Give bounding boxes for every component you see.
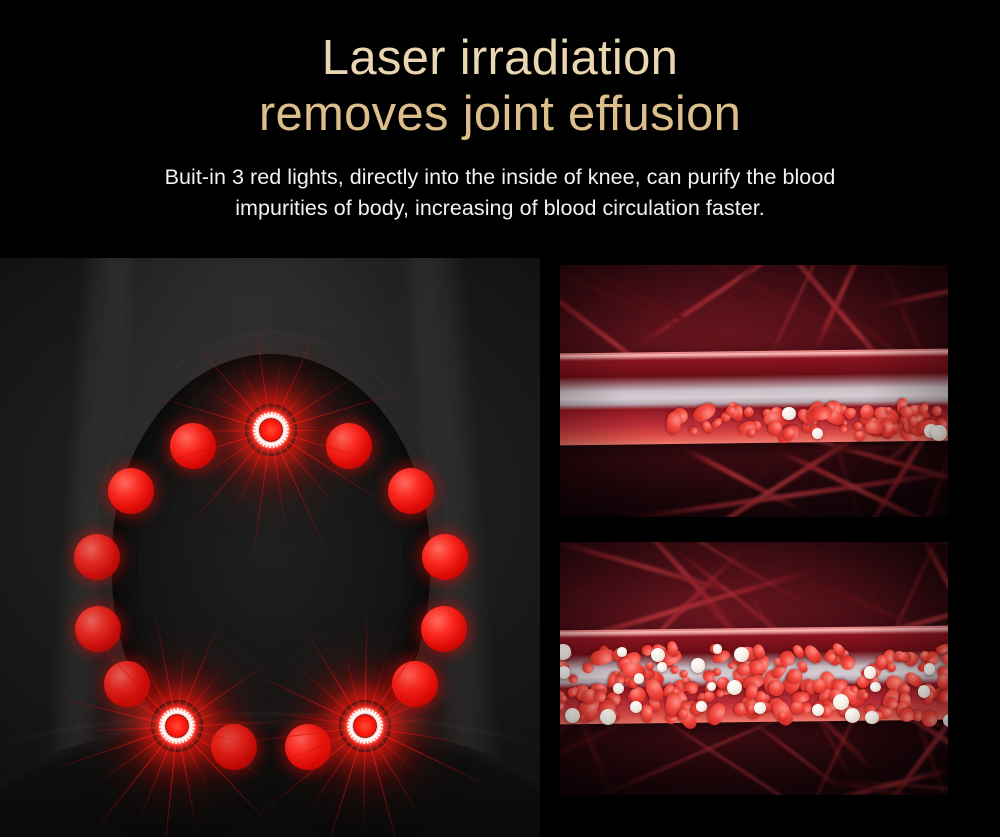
subtitle-line-1: Buit-in 3 red lights, directly into the … [0,162,1000,193]
white-blood-cell [560,644,571,659]
red-blood-cell [839,424,849,434]
red-blood-cell [568,673,580,685]
red-blood-cell [560,694,567,704]
blood-vessel-after [560,542,948,795]
red-led [422,534,468,580]
white-blood-cell [600,709,616,725]
white-blood-cell [696,701,707,712]
red-blood-cell [861,692,868,699]
subtitle: Buit-in 3 red lights, directly into the … [0,162,1000,225]
white-blood-cell [931,425,947,441]
red-blood-cell [670,665,680,675]
laser-led [151,700,203,752]
white-blood-cell [617,647,626,656]
white-blood-cell [630,701,642,713]
page-title: Laser irradiation removes joint effusion [0,0,1000,140]
blood-vessel-before [560,265,948,517]
red-led [388,468,434,514]
red-led [108,468,154,514]
white-blood-cell [812,428,823,439]
red-blood-cell [678,709,688,719]
subtitle-line-2: impurities of body, increasing of blood … [0,193,1000,224]
red-led [421,606,467,652]
red-blood-cell [689,426,700,437]
white-blood-cell [727,680,742,695]
white-blood-cell [782,407,795,420]
product-photo-knee-brace [0,258,540,837]
white-blood-cell [754,702,766,714]
red-blood-cell [932,406,942,416]
white-blood-cell [865,711,878,724]
header: Laser irradiation removes joint effusion… [0,0,1000,258]
red-blood-cell [748,429,756,437]
red-blood-cell [630,687,646,703]
white-blood-cell [845,708,860,723]
red-blood-cell [864,421,884,434]
red-blood-cell [899,707,915,723]
red-led [104,661,150,707]
led-ring [0,258,540,837]
white-blood-cell [634,673,645,684]
red-blood-cell [830,679,847,690]
red-blood-cell [885,662,897,674]
red-led [211,724,257,770]
white-blood-cell [734,647,749,662]
red-blood-cell [705,700,728,727]
white-blood-cell [918,685,930,697]
white-blood-cell [565,708,580,723]
title-line-2: removes joint effusion [0,90,1000,140]
red-blood-cell [853,429,866,442]
white-blood-cell [812,704,824,716]
white-blood-cell [657,662,667,672]
white-blood-cell [943,714,948,728]
red-blood-cell [742,405,755,418]
white-blood-cell [924,663,935,674]
red-blood-cell [665,411,681,435]
white-blood-cell [613,683,624,694]
white-blood-cell [833,694,849,710]
white-blood-cell [870,682,880,692]
title-line-1: Laser irradiation [0,34,1000,84]
blood-cells [560,265,948,517]
white-blood-cell [691,658,706,673]
red-led [74,534,120,580]
laser-led [339,700,391,752]
white-blood-cell [707,682,717,692]
blood-cells [560,542,948,795]
white-blood-cell [713,644,722,653]
laser-led [245,404,297,456]
product-feature-page: Laser irradiation removes joint effusion… [0,0,1000,837]
